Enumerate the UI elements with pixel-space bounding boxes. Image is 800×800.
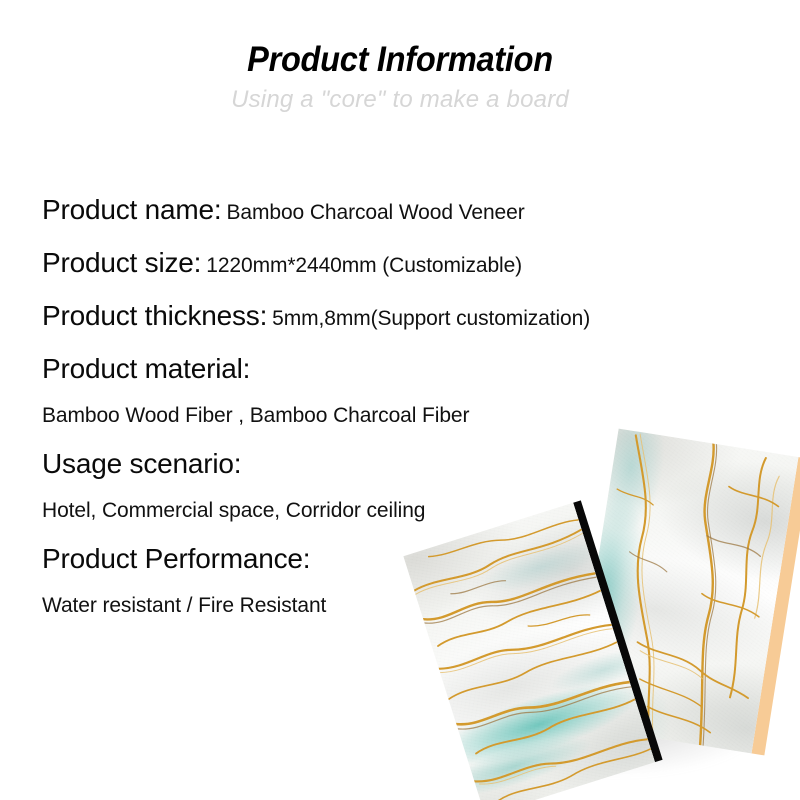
spec-detail-product-material-row: Bamboo Wood Fiber , Bamboo Charcoal Fibe… xyxy=(42,405,682,426)
spec-detail-product-performance: Water resistant / Fire Resistant xyxy=(42,594,326,617)
page-title: Product Information xyxy=(28,0,772,80)
spec-value-product-name: Bamboo Charcoal Wood Veneer xyxy=(222,201,525,224)
spec-row-product-size: Product size:1220mm*2440mm (Customizable… xyxy=(42,249,682,277)
product-information-page: Product Information Using a "core" to ma… xyxy=(0,0,800,800)
spec-detail-product-material: Bamboo Wood Fiber , Bamboo Charcoal Fibe… xyxy=(42,404,469,427)
spec-value-product-size: 1220mm*2440mm (Customizable) xyxy=(201,254,522,277)
page-header: Product Information Using a "core" to ma… xyxy=(0,0,800,115)
product-image xyxy=(410,430,800,800)
spec-value-product-thickness: 5mm,8mm(Support customization) xyxy=(267,307,590,330)
spec-row-product-thickness: Product thickness:5mm,8mm(Support custom… xyxy=(42,302,682,330)
spec-label-product-performance: Product Performance: xyxy=(42,543,310,574)
spec-detail-usage-scenario: Hotel, Commercial space, Corridor ceilin… xyxy=(42,499,425,522)
spec-label-product-thickness: Product thickness: xyxy=(42,300,267,331)
spec-row-product-material: Product material: xyxy=(42,355,682,383)
spec-label-product-material: Product material: xyxy=(42,353,250,384)
spec-row-product-name: Product name:Bamboo Charcoal Wood Veneer xyxy=(42,196,682,224)
page-subtitle: Using a "core" to make a board xyxy=(0,80,800,115)
spec-label-product-size: Product size: xyxy=(42,247,201,278)
spec-label-product-name: Product name: xyxy=(42,194,222,225)
spec-label-usage-scenario: Usage scenario: xyxy=(42,448,241,479)
